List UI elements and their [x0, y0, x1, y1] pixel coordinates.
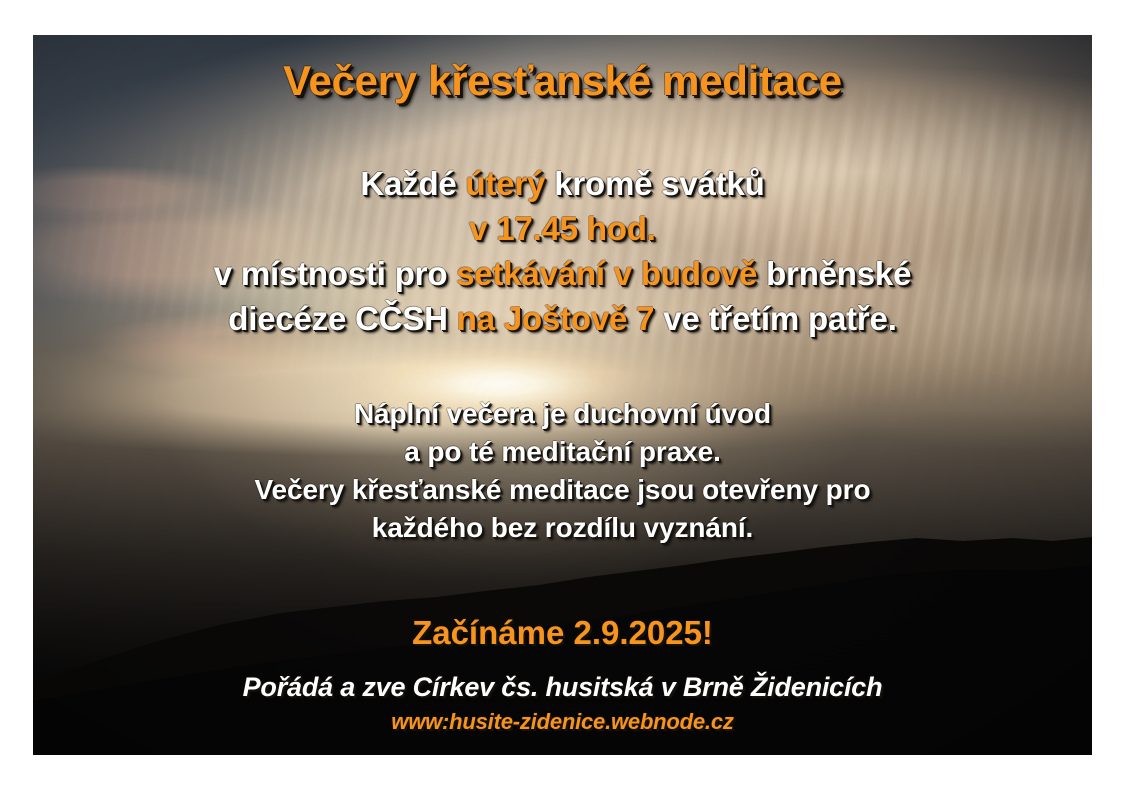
schedule-weekday-prefix: Každé: [360, 165, 465, 202]
address-suffix: ve třetím patře.: [654, 300, 896, 337]
description-line-3: Večery křesťanské meditace jsou otevřeny…: [33, 471, 1092, 509]
schedule-line-time: v 17.45 hod.: [33, 206, 1092, 251]
schedule-time-text: v 17.45 hod.: [469, 210, 656, 247]
description-line-1: Náplní večera je duchovní úvod: [33, 395, 1092, 433]
schedule-block: Každé úterý kromě svátků v 17.45 hod. v …: [33, 161, 1092, 341]
start-date-text: Začínáme 2.9.2025!: [33, 614, 1092, 652]
footer-block: Pořádá a zve Církev čs. husitská v Brně …: [33, 672, 1092, 735]
footer-website-link[interactable]: www:husite-zidenice.webnode.cz: [33, 709, 1092, 735]
description-block: Náplní večera je duchovní úvod a po té m…: [33, 395, 1092, 547]
schedule-weekday-highlight: úterý: [466, 165, 546, 202]
venue-highlight: setkávání v budově: [456, 255, 757, 292]
schedule-weekday-suffix: kromě svátků: [545, 165, 764, 202]
schedule-line-venue: v místnosti pro setkávání v budově brněn…: [33, 251, 1092, 296]
schedule-line-address: diecéze CČSH na Joštově 7 ve třetím patř…: [33, 296, 1092, 341]
poster-title-text: Večery křesťanské meditace: [283, 57, 842, 104]
venue-suffix: brněnské: [757, 255, 911, 292]
poster-root: Večery křesťanské meditace Každé úterý k…: [0, 0, 1123, 794]
description-line-4: každého bez rozdílu vyznání.: [33, 509, 1092, 547]
photo-canvas: Večery křesťanské meditace Každé úterý k…: [33, 35, 1092, 755]
schedule-line-weekday: Každé úterý kromě svátků: [33, 161, 1092, 206]
poster-text-layer: Večery křesťanské meditace Každé úterý k…: [33, 35, 1092, 755]
venue-prefix: v místnosti pro: [214, 255, 457, 292]
footer-organizer-text: Pořádá a zve Církev čs. husitská v Brně …: [33, 672, 1092, 703]
description-line-2: a po té meditační praxe.: [33, 433, 1092, 471]
address-highlight: na Joštově 7: [457, 300, 655, 337]
address-prefix: diecéze CČSH: [228, 300, 456, 337]
poster-title: Večery křesťanské meditace: [33, 57, 1092, 105]
